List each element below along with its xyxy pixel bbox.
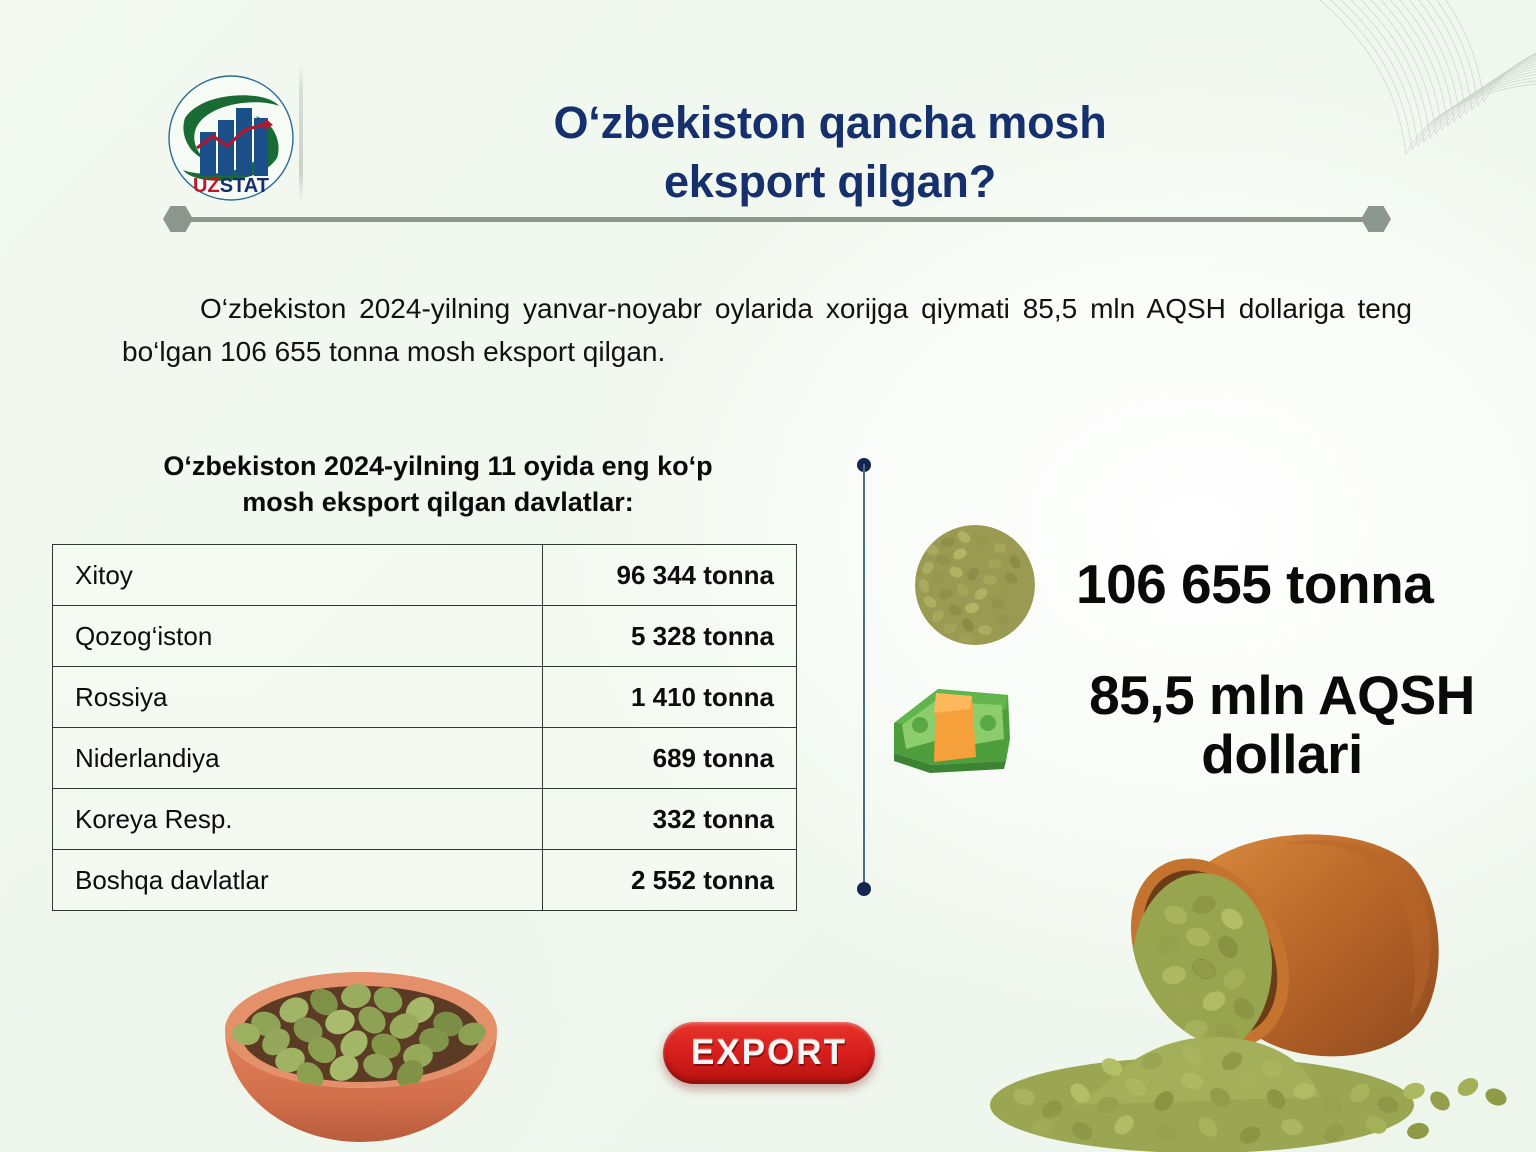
table-row: Niderlandiya 689 tonna [53,728,797,789]
table-cell-country: Koreya Resp. [53,789,543,850]
table-row: Boshqa davlatlar 2 552 tonna [53,850,797,911]
table-cell-value: 1 410 tonna [543,667,797,728]
table-cell-country: Boshqa davlatlar [53,850,543,911]
highlight-value-line2: dollari [1052,725,1512,784]
separator-line [863,464,865,890]
export-button[interactable]: EXPORT [663,1022,875,1084]
table-heading-line1: O‘zbekiston 2024-yilning 11 oyida eng ko… [78,448,798,484]
table-cell-value: 5 328 tonna [543,606,797,667]
table-row: Koreya Resp. 332 tonna [53,789,797,850]
mung-bean-pile-icon [910,520,1040,650]
highlight-total-tonnage: 106 655 tonna [910,520,1510,650]
table-heading: O‘zbekiston 2024-yilning 11 oyida eng ko… [78,448,798,520]
infographic-page: UZSTAT O‘zbekiston qancha mosh eksport q… [0,0,1536,1152]
intro-paragraph: O‘zbekiston 2024-yilning yanvar-noyabr o… [122,288,1412,373]
table-cell-value: 689 tonna [543,728,797,789]
table-row: Qozog‘iston 5 328 tonna [53,606,797,667]
uzstat-logo: UZSTAT [167,74,295,202]
table-cell-country: Xitoy [53,545,543,606]
table-row: Xitoy 96 344 tonna [53,545,797,606]
divider-bar [187,217,1367,222]
separator-dot-bottom [857,882,871,896]
table-cell-country: Niderlandiya [53,728,543,789]
vertical-separator [857,458,871,896]
mung-bean-bowl-image [176,938,546,1152]
export-button-label: EXPORT [691,1033,847,1073]
header-divider [163,206,1391,232]
spilled-mung-bean-cup-image [952,805,1530,1152]
table-cell-country: Qozog‘iston [53,606,543,667]
table-cell-value: 332 tonna [543,789,797,850]
page-title: O‘zbekiston qancha mosh eksport qilgan? [330,94,1330,211]
logo-separator [299,62,303,202]
divider-hexagon-right [1361,206,1391,232]
money-stack-icon [880,665,1030,785]
table-cell-value: 96 344 tonna [543,545,797,606]
table-heading-line2: mosh eksport qilgan davlatlar: [78,484,798,520]
svg-text:UZSTAT: UZSTAT [193,175,269,197]
page-title-line2: eksport qilgan? [330,153,1330,212]
highlight-tonnage-text: 106 655 tonna [1076,555,1433,614]
table-row: Rossiya 1 410 tonna [53,667,797,728]
highlight-value-line1: 85,5 mln AQSH [1052,666,1512,725]
page-title-line1: O‘zbekiston qancha mosh [330,94,1330,153]
highlight-value-text: 85,5 mln AQSH dollari [1052,666,1512,785]
table-cell-value: 2 552 tonna [543,850,797,911]
export-countries-table: Xitoy 96 344 tonna Qozog‘iston 5 328 ton… [52,544,797,911]
table-cell-country: Rossiya [53,667,543,728]
highlight-total-value: 85,5 mln AQSH dollari [880,665,1520,785]
